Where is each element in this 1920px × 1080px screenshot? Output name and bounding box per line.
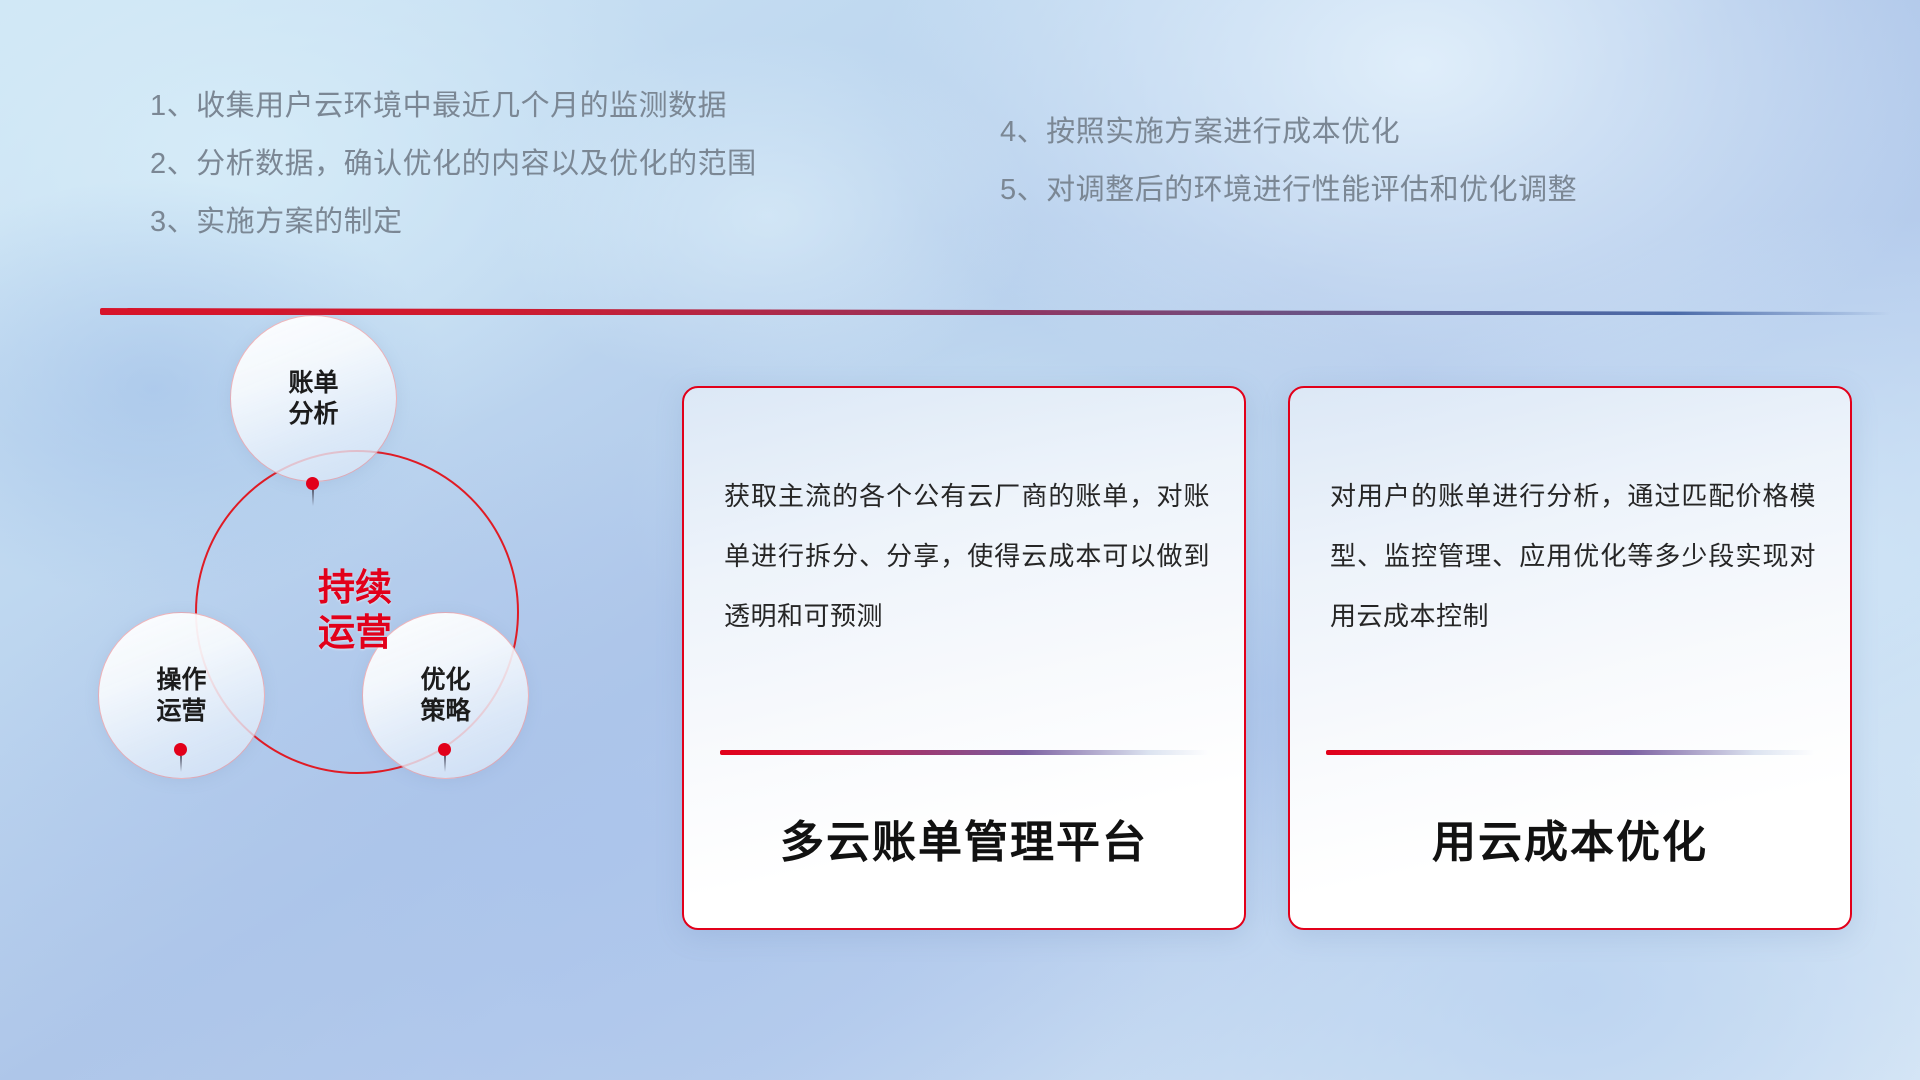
venn-connector-tick-left: [180, 756, 182, 772]
step-item: 5、对调整后的环境进行性能评估和优化调整: [1000, 176, 1577, 205]
steps-right-column: 4、按照实施方案进行成本优化 5、对调整后的环境进行性能评估和优化调整: [1000, 118, 1577, 234]
venn-bubble-label: 账单分析: [231, 367, 396, 430]
slide-canvas: 1、收集用户云环境中最近几个月的监测数据 2、分析数据，确认优化的内容以及优化的…: [0, 0, 1920, 1080]
step-item: 1、收集用户云环境中最近几个月的监测数据: [150, 92, 757, 121]
venn-connector-tick-right: [444, 756, 446, 772]
card-accent-rule: [720, 750, 1208, 755]
venn-node-dot-right: [438, 743, 451, 756]
section-divider: [100, 308, 1890, 315]
step-item: 3、实施方案的制定: [150, 208, 757, 237]
card-body-text: 获取主流的各个公有云厂商的账单，对账单进行拆分、分享，使得云成本可以做到透明和可…: [724, 466, 1210, 646]
venn-node-dot-top: [306, 477, 319, 490]
card-accent-rule: [1326, 750, 1814, 755]
step-item: 4、按照实施方案进行成本优化: [1000, 118, 1577, 147]
venn-connector-tick-top: [312, 490, 314, 506]
venn-diagram: 账单分析 操作运营 优化策略 持续运营: [80, 330, 550, 930]
steps-left-column: 1、收集用户云环境中最近几个月的监测数据 2、分析数据，确认优化的内容以及优化的…: [150, 92, 757, 266]
card-multi-cloud-billing-platform[interactable]: 获取主流的各个公有云厂商的账单，对账单进行拆分、分享，使得云成本可以做到透明和可…: [682, 386, 1246, 930]
card-body-text: 对用户的账单进行分析，通过匹配价格模型、监控管理、应用优化等多少段实现对用云成本…: [1330, 466, 1816, 646]
venn-node-dot-left: [174, 743, 187, 756]
card-cloud-cost-optimization[interactable]: 对用户的账单进行分析，通过匹配价格模型、监控管理、应用优化等多少段实现对用云成本…: [1288, 386, 1852, 930]
step-item: 2、分析数据，确认优化的内容以及优化的范围: [150, 150, 757, 179]
card-title: 用云成本优化: [1290, 806, 1850, 870]
venn-center-label: 持续运营: [195, 450, 515, 770]
card-title: 多云账单管理平台: [684, 806, 1244, 870]
